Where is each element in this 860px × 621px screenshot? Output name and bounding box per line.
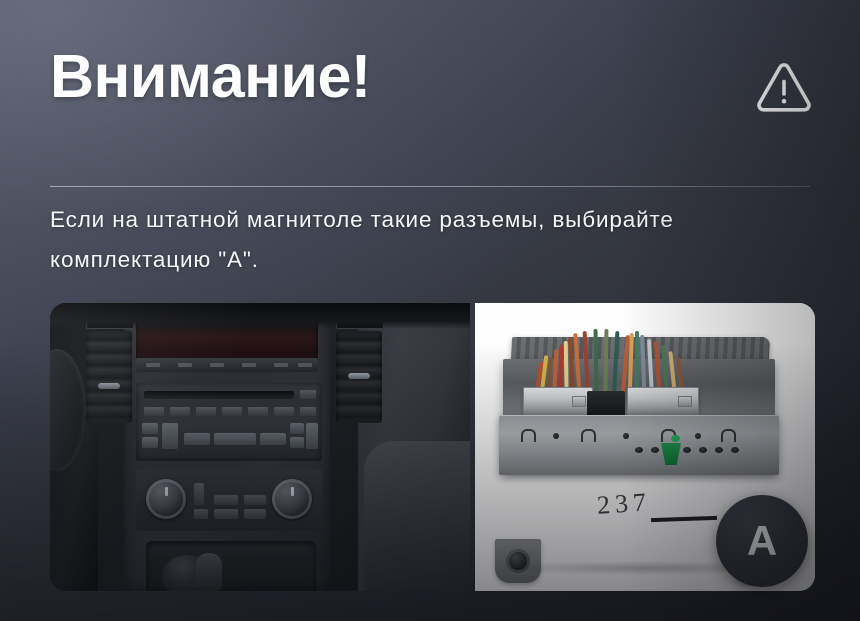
header-divider	[50, 186, 810, 187]
climate-control-panel	[136, 469, 322, 531]
wiring-connector-right	[627, 387, 699, 415]
wiring-connector-left	[523, 387, 593, 415]
variant-a-badge: A	[716, 495, 808, 587]
air-vent-right	[336, 331, 382, 423]
warning-triangle-icon	[756, 62, 812, 116]
page-title: Внимание!	[50, 46, 371, 107]
radio-display-lip	[136, 358, 318, 372]
gear-shifter-lever	[196, 553, 222, 591]
air-vent-left	[86, 331, 132, 423]
photo-group: 237	[50, 303, 815, 591]
radio-front-plate	[499, 415, 779, 475]
handwritten-underline	[651, 516, 717, 522]
warning-slide: Внимание! Если на штатной магнитоле таки…	[0, 0, 860, 621]
radio-head-unit	[136, 383, 322, 461]
car-dashboard-photo	[50, 303, 470, 591]
green-indicator-dot	[671, 435, 680, 442]
instruction-text: Если на штатной магнитоле такие разъемы,…	[50, 200, 816, 280]
climate-knob-left	[146, 479, 186, 519]
cd-slot	[144, 391, 294, 399]
handwritten-number: 237	[596, 487, 652, 521]
dashboard-scene	[50, 303, 470, 591]
chassis-black-module	[587, 391, 625, 417]
wire-harness	[521, 327, 721, 393]
climate-knob-right	[272, 479, 312, 519]
dashboard-top-shade	[50, 303, 470, 329]
